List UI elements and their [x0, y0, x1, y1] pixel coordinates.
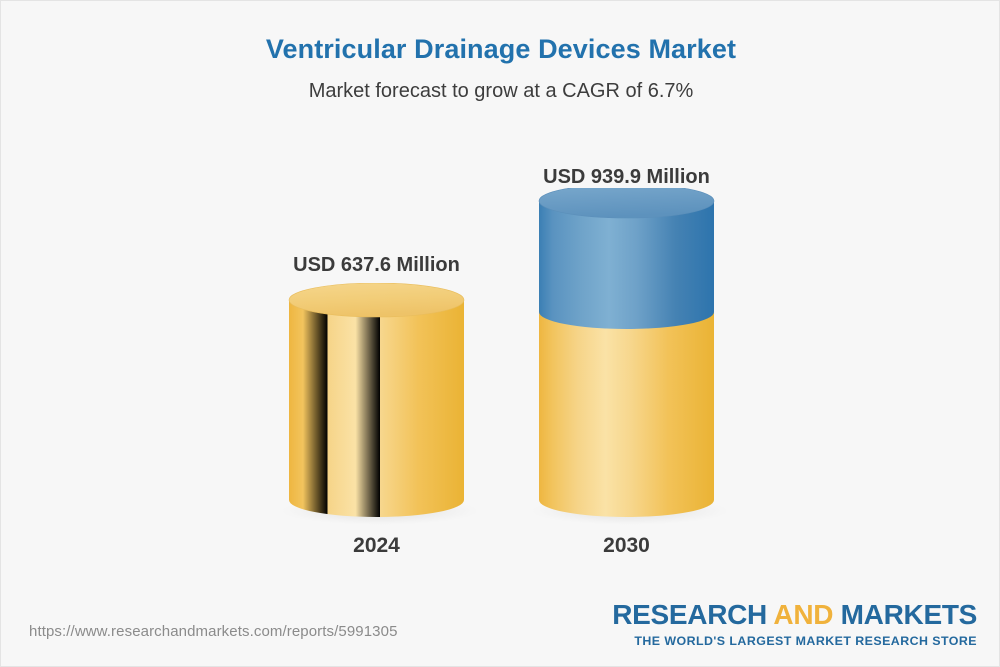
infographic-canvas: Ventricular Drainage Devices Market Mark… [0, 0, 1000, 667]
logo-word-markets: MARKETS [841, 599, 977, 630]
logo-wordmark: RESEARCH AND MARKETS [612, 601, 977, 629]
research-and-markets-logo: RESEARCH AND MARKETS THE WORLD'S LARGEST… [612, 601, 977, 648]
chart-plot-area: USD 637.6 Million [1, 1, 1000, 667]
logo-word-and: AND [773, 599, 833, 630]
cylinder-top-2024 [289, 283, 464, 317]
value-label-2024: USD 637.6 Million [289, 254, 464, 277]
logo-word-research: RESEARCH [612, 599, 767, 630]
cylinder-2030 [526, 188, 727, 528]
cylinder-2024 [276, 283, 477, 528]
year-label-2024: 2024 [289, 534, 464, 558]
report-url[interactable]: https://www.researchandmarkets.com/repor… [29, 623, 398, 640]
cylinder-body-2024 [289, 300, 464, 517]
value-label-2030: USD 939.9 Million [539, 166, 714, 189]
year-label-2030: 2030 [539, 534, 714, 558]
logo-tagline: THE WORLD'S LARGEST MARKET RESEARCH STOR… [612, 634, 977, 648]
cylinder-growth-segment-2030 [539, 201, 714, 329]
